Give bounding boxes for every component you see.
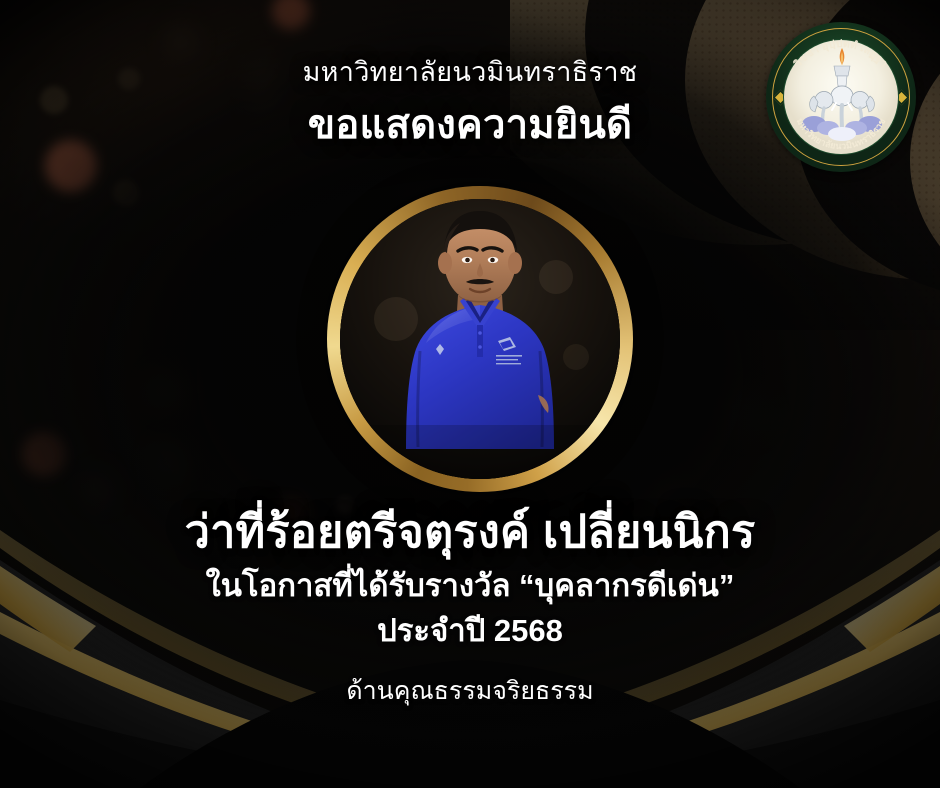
honoree-portrait [327,186,633,492]
award-category: ด้านคุณธรรมจริยธรรม [0,678,940,704]
congratulation-poster: วิชชา อุปฺปตตํ เสฏฺฐา มหาวิทยาลัยนวมินทร… [0,0,940,788]
honoree-photo-illustration [340,199,620,479]
award-line: ในโอกาสที่ได้รับรางวัล “บุคลากรดีเด่น” [0,570,940,603]
award-year-line: ประจำปี 2568 [0,615,940,648]
university-seal-logo[interactable]: วิชชา อุปฺปตตํ เสฏฺฐา มหาวิทยาลัยนวมินทร… [766,22,916,172]
honoree-photo [340,199,620,479]
honoree-name: ว่าที่ร้อยตรีจตุรงค์ เปลี่ยนนิกร [0,508,940,555]
congratulations-heading: ขอแสดงความยินดี [0,104,940,146]
university-name: มหาวิทยาลัยนวมินทราธิราช [0,58,940,86]
